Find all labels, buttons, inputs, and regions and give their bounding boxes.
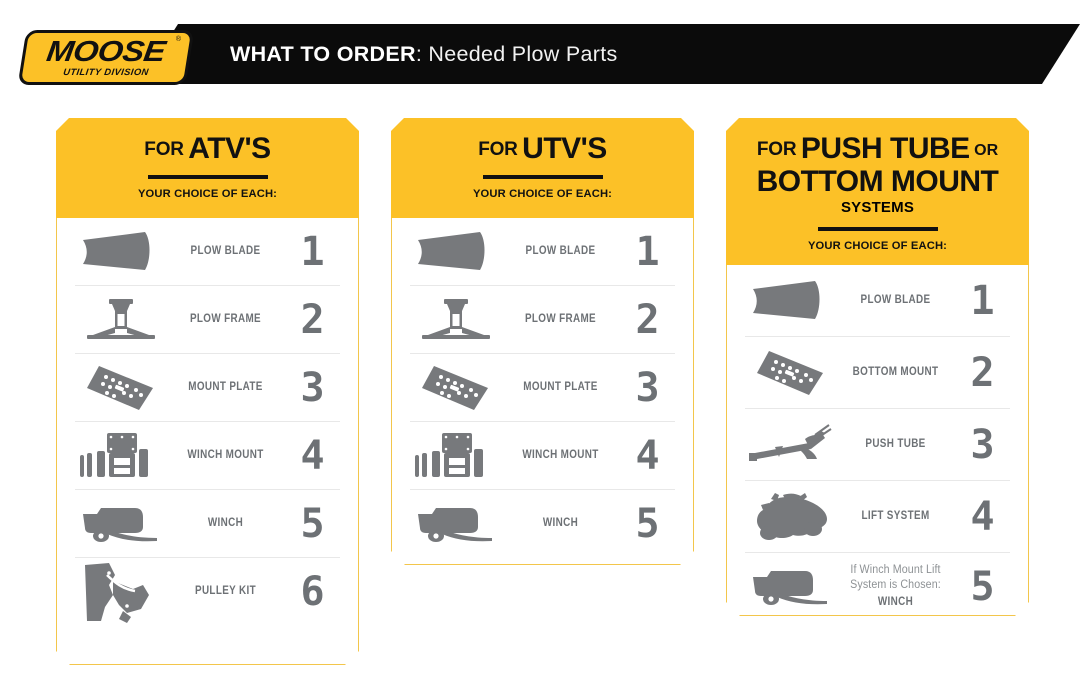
card-push-tube-body: PLOW BLADE 1 xyxy=(726,265,1029,616)
card-atv-body: PLOW BLADE 1 PLOW FRAME xyxy=(56,218,359,665)
list-item[interactable]: PLOW FRAME 2 xyxy=(75,285,340,353)
card-utv-divider xyxy=(483,175,603,179)
list-item-label: WINCH xyxy=(175,516,276,530)
list-item-note: If Winch Mount Lift System is Chosen: xyxy=(841,563,950,592)
mount-plate-icon xyxy=(410,354,502,421)
list-item-label: PLOW FRAME xyxy=(175,312,276,326)
list-item-label: MOUNT PLATE xyxy=(510,380,611,394)
card-utv-choice-label: YOUR CHOICE OF EACH: xyxy=(391,188,694,200)
card-push-tube-header: FOR PUSH TUBE OR BOTTOM MOUNT SYSTEMS YO… xyxy=(726,118,1029,265)
list-item-number: 5 xyxy=(954,567,1010,607)
plow-blade-icon xyxy=(745,265,837,336)
mount-plate-icon xyxy=(75,354,167,421)
list-item[interactable]: WINCH MOUNT 4 xyxy=(410,421,675,489)
list-item[interactable]: PLOW FRAME 2 xyxy=(410,285,675,353)
list-item-number: 2 xyxy=(619,300,675,340)
card-atv-subject: ATV'S xyxy=(188,132,270,165)
winch-mount-icon xyxy=(410,422,502,489)
card-atv-for: FOR xyxy=(144,139,184,160)
list-item-number: 1 xyxy=(284,232,340,272)
list-item[interactable]: WINCH 5 xyxy=(410,489,675,557)
card-push-tube-choice-label: YOUR CHOICE OF EACH: xyxy=(726,240,1029,252)
list-item[interactable]: PLOW BLADE 1 xyxy=(745,265,1010,336)
list-item-label-group: If Winch Mount Lift System is Chosen: WI… xyxy=(845,563,946,609)
list-item[interactable]: WINCH 5 xyxy=(75,489,340,557)
list-item[interactable]: PUSH TUBE 3 xyxy=(745,408,1010,480)
push-tube-icon xyxy=(745,409,837,480)
list-item-number: 1 xyxy=(954,281,1010,321)
list-item-label: MOUNT PLATE xyxy=(175,380,276,394)
list-item-number: 4 xyxy=(954,497,1010,537)
card-atv-divider xyxy=(148,175,268,179)
list-item-label: WINCH MOUNT xyxy=(510,448,611,462)
list-item-number: 3 xyxy=(284,368,340,408)
list-item[interactable]: MOUNT PLATE 3 xyxy=(410,353,675,421)
winch-icon xyxy=(745,553,837,620)
list-item-number: 2 xyxy=(284,300,340,340)
card-atv: FOR ATV'S YOUR CHOICE OF EACH: PLOW BLAD… xyxy=(56,118,359,665)
list-item-number: 3 xyxy=(619,368,675,408)
list-item-label: WINCH xyxy=(878,596,913,608)
plow-frame-icon xyxy=(410,286,502,353)
plow-frame-icon xyxy=(75,286,167,353)
list-item-number: 5 xyxy=(284,504,340,544)
card-utv-for: FOR xyxy=(478,139,518,160)
card-push-tube-systems: SYSTEMS xyxy=(726,199,1029,216)
list-item[interactable]: LIFT SYSTEM 4 xyxy=(745,480,1010,552)
cards-container: FOR ATV'S YOUR CHOICE OF EACH: PLOW BLAD… xyxy=(0,0,1080,691)
card-push-tube-title-line1: FOR PUSH TUBE OR xyxy=(726,134,1029,164)
atv-icon xyxy=(745,481,837,552)
pulley-kit-icon xyxy=(75,558,167,625)
card-utv: FOR UTV'S YOUR CHOICE OF EACH: PLOW BLAD… xyxy=(391,118,694,565)
list-item-label: WINCH xyxy=(510,516,611,530)
list-item[interactable]: WINCH MOUNT 4 xyxy=(75,421,340,489)
list-item-label: PUSH TUBE xyxy=(845,437,946,451)
card-push-tube-or: OR xyxy=(974,142,998,159)
list-item-number: 4 xyxy=(619,436,675,476)
card-utv-body: PLOW BLADE 1 PLOW FRAME xyxy=(391,218,694,565)
card-push-tube-subject-1: PUSH TUBE xyxy=(801,132,970,165)
list-item-label: PLOW BLADE xyxy=(175,244,276,258)
list-item-label: LIFT SYSTEM xyxy=(845,509,946,523)
card-push-tube-bottom-mount: FOR PUSH TUBE OR BOTTOM MOUNT SYSTEMS YO… xyxy=(726,118,1029,616)
list-item[interactable]: PULLEY KIT 6 xyxy=(75,557,340,625)
list-item-label: PULLEY KIT xyxy=(175,584,276,598)
list-item-number: 3 xyxy=(954,425,1010,465)
card-push-tube-title-line2: BOTTOM MOUNT xyxy=(726,167,1029,197)
list-item-number: 5 xyxy=(619,504,675,544)
winch-icon xyxy=(410,490,502,557)
plow-blade-icon xyxy=(410,218,502,285)
card-push-tube-subject-2: BOTTOM MOUNT xyxy=(757,165,999,198)
card-push-tube-divider xyxy=(818,227,938,231)
list-item-label: PLOW BLADE xyxy=(510,244,611,258)
list-item-number: 1 xyxy=(619,232,675,272)
list-item-number: 4 xyxy=(284,436,340,476)
list-item-label: WINCH MOUNT xyxy=(175,448,276,462)
mount-plate-icon xyxy=(745,337,837,408)
list-item[interactable]: PLOW BLADE 1 xyxy=(410,218,675,285)
list-item-number: 6 xyxy=(284,572,340,612)
list-item[interactable]: MOUNT PLATE 3 xyxy=(75,353,340,421)
winch-icon xyxy=(75,490,167,557)
card-utv-title: FOR UTV'S xyxy=(391,134,694,164)
winch-mount-icon xyxy=(75,422,167,489)
card-atv-choice-label: YOUR CHOICE OF EACH: xyxy=(56,188,359,200)
list-item-number: 2 xyxy=(954,353,1010,393)
list-item[interactable]: If Winch Mount Lift System is Chosen: WI… xyxy=(745,552,1010,620)
card-utv-header: FOR UTV'S YOUR CHOICE OF EACH: xyxy=(391,118,694,218)
card-atv-header: FOR ATV'S YOUR CHOICE OF EACH: xyxy=(56,118,359,218)
plow-blade-icon xyxy=(75,218,167,285)
list-item-label: PLOW BLADE xyxy=(845,293,946,307)
card-utv-subject: UTV'S xyxy=(522,132,607,165)
list-item[interactable]: BOTTOM MOUNT 2 xyxy=(745,336,1010,408)
card-atv-title: FOR ATV'S xyxy=(56,134,359,164)
list-item[interactable]: PLOW BLADE 1 xyxy=(75,218,340,285)
list-item-label: BOTTOM MOUNT xyxy=(845,365,946,379)
list-item-label: PLOW FRAME xyxy=(510,312,611,326)
card-push-tube-for: FOR xyxy=(757,139,797,160)
